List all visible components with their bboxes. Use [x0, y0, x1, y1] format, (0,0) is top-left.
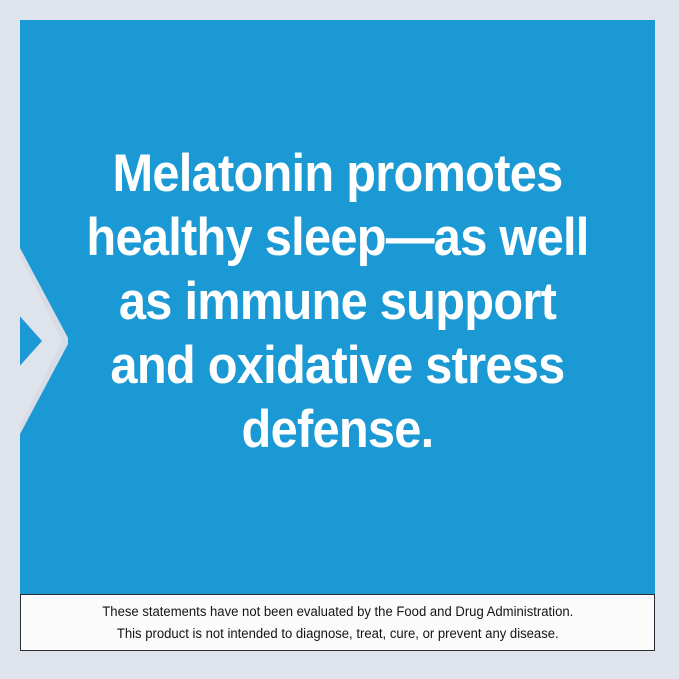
headline-line-5: defense. [45, 398, 629, 462]
headline-line-1: Melatonin promotes [45, 142, 629, 206]
headline-line-4: and oxidative stress [45, 334, 629, 398]
product-claim-card: Melatonin promotes healthy sleep—as well… [0, 0, 679, 679]
fda-disclaimer: These statements have not been evaluated… [20, 594, 655, 651]
disclaimer-line-2: This product is not intended to diagnose… [117, 623, 559, 645]
headline-line-2: healthy sleep—as well [45, 206, 629, 270]
page-title: Melatonin promotes healthy sleep—as well… [45, 142, 629, 462]
disclaimer-line-1: These statements have not been evaluated… [102, 601, 573, 623]
headline-line-3: as immune support [45, 270, 629, 334]
